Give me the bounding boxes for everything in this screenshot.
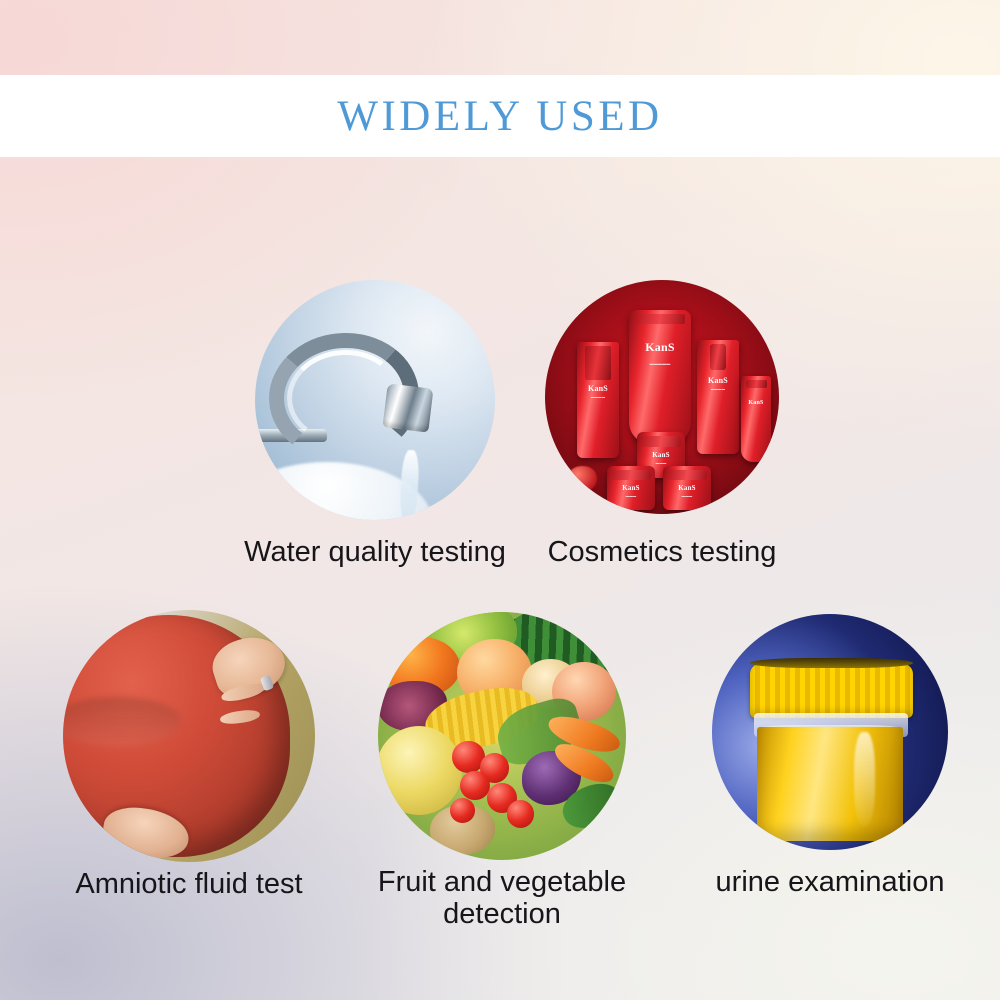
kans-product-subtext: ▬▬▬ bbox=[626, 494, 637, 498]
urine-specimen-cup-image bbox=[712, 614, 948, 850]
pomegranate-shape bbox=[567, 466, 597, 492]
kans-product-subtext: ▬▬▬▬ bbox=[711, 387, 725, 391]
kans-cosmetics-image: KanS ▬▬▬▬ KanS ▬▬▬▬▬ KanS ▬▬▬▬ KanS KanS bbox=[545, 280, 779, 514]
tomato-shape bbox=[507, 800, 534, 827]
kans-product-subtext: ▬▬▬▬▬ bbox=[650, 361, 671, 366]
use-case-fruit-vegetable: Fruit and vegetable detection bbox=[378, 612, 626, 860]
kans-cream-jar-right: KanS ▬▬▬ bbox=[663, 466, 711, 510]
jar-lid-shape bbox=[667, 470, 707, 480]
kans-bottle-left: KanS ▬▬▬▬ bbox=[577, 342, 619, 458]
use-case-water-quality: Water quality testing bbox=[255, 280, 495, 520]
caption-cosmetics: Cosmetics testing bbox=[507, 536, 817, 568]
kans-brand-label: KanS bbox=[622, 484, 640, 492]
kans-eye-cream-tube: KanS bbox=[741, 376, 771, 462]
caption-fruit-vegetable: Fruit and vegetable detection bbox=[350, 866, 654, 931]
kans-product-subtext: ▬▬▬ bbox=[656, 461, 667, 465]
pregnant-belly-image bbox=[63, 610, 315, 862]
use-case-amniotic-fluid: Amniotic fluid test bbox=[63, 610, 315, 862]
bottle-neck-shape bbox=[585, 346, 610, 380]
cup-highlight-shape bbox=[854, 732, 875, 826]
kans-bottle-right: KanS ▬▬▬▬ bbox=[697, 340, 739, 454]
caption-water-quality: Water quality testing bbox=[203, 536, 547, 568]
caption-urine-examination: urine examination bbox=[690, 866, 970, 898]
jar-lid-shape bbox=[611, 470, 651, 480]
use-case-urine-examination: urine examination bbox=[712, 614, 948, 850]
faucet-running-water-image bbox=[255, 280, 495, 520]
fruits-vegetables-image bbox=[378, 612, 626, 860]
kans-tube-large: KanS ▬▬▬▬▬ bbox=[629, 310, 691, 444]
page-title: WIDELY USED bbox=[337, 92, 662, 141]
kans-brand-label: KanS bbox=[645, 340, 674, 355]
jar-lid-shape bbox=[641, 436, 681, 447]
caption-amniotic-fluid: Amniotic fluid test bbox=[0, 868, 379, 900]
tube-cap-shape bbox=[746, 380, 767, 388]
title-banner: WIDELY USED bbox=[0, 75, 1000, 157]
kans-brand-label: KanS bbox=[678, 484, 696, 492]
cup-body-liquid-shape bbox=[757, 727, 903, 840]
yellow-melon-shape bbox=[378, 726, 462, 815]
tomato-shape bbox=[460, 771, 490, 801]
pump-head-shape bbox=[710, 344, 727, 370]
kans-product-subtext: ▬▬▬ bbox=[682, 494, 693, 498]
tube-cap-shape bbox=[635, 314, 685, 324]
kans-cream-jar-left: KanS ▬▬▬ bbox=[607, 466, 655, 510]
kans-brand-label: KanS bbox=[748, 400, 763, 406]
use-case-cosmetics: KanS ▬▬▬▬ KanS ▬▬▬▬▬ KanS ▬▬▬▬ KanS KanS bbox=[545, 280, 779, 514]
kans-brand-label: KanS bbox=[708, 376, 728, 385]
tomato-shape bbox=[450, 798, 475, 823]
kans-brand-label: KanS bbox=[652, 451, 670, 459]
faucet-aerator-shape bbox=[382, 383, 433, 432]
widely-used-poster: WIDELY USED Water quality testing KanS ▬… bbox=[0, 0, 1000, 1000]
kans-brand-label: KanS bbox=[588, 384, 608, 393]
kans-product-subtext: ▬▬▬▬ bbox=[591, 395, 605, 399]
cup-lid-shape bbox=[750, 664, 913, 718]
